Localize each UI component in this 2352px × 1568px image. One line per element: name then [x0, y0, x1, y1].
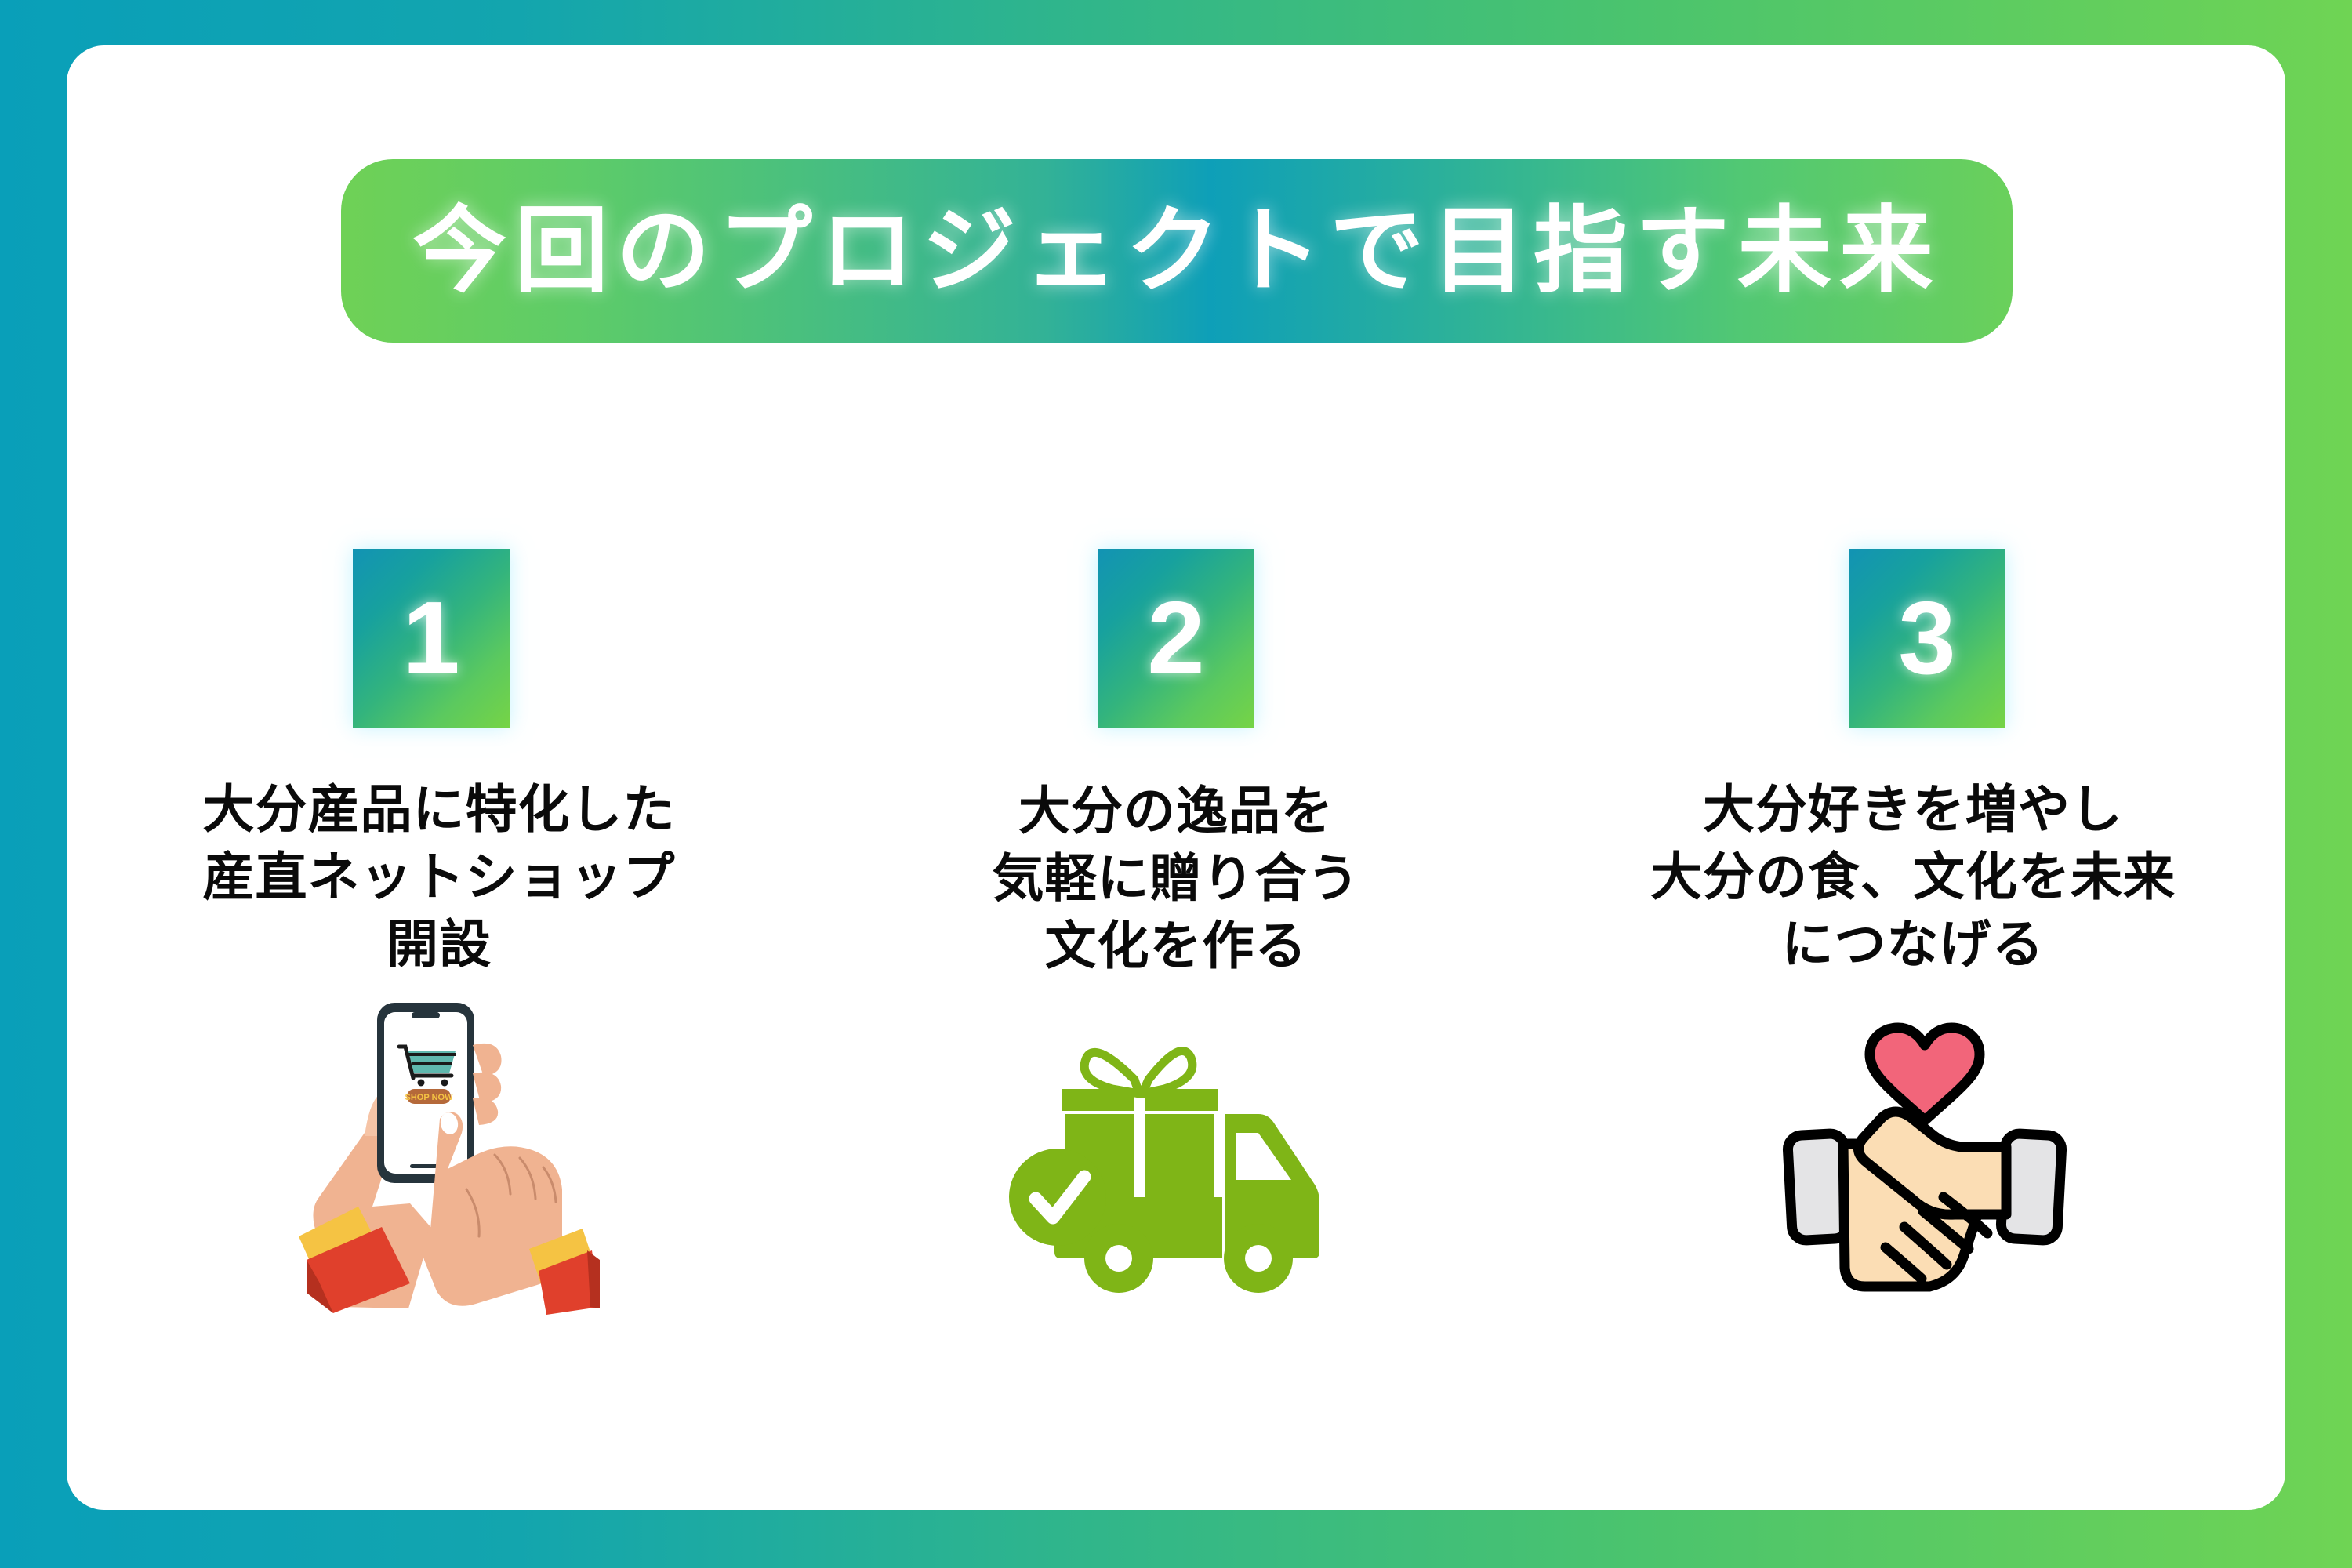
- hand-holding-phone-shopping-icon: SHOP NOW: [270, 1001, 600, 1315]
- slide-canvas: 今回のプロジェクトで目指す未来 1 大分産品に特化した 産直ネットショップ 開設: [0, 0, 2352, 1568]
- gift-delivery-truck-check-icon: [1009, 1023, 1338, 1305]
- title-banner: 今回のプロジェクトで目指す未来: [341, 159, 2013, 343]
- goal-column-3: 3 大分好きを増やし 大分の食、文化を未来 につなげる: [1560, 549, 2266, 1349]
- step-number-3: 3: [1898, 586, 1955, 690]
- handshake-heart-icon: [1768, 1020, 2082, 1302]
- goal-caption-3: 大分好きを増やし 大分の食、文化を未来 につなげる: [1650, 776, 2176, 978]
- goals-columns: 1 大分産品に特化した 産直ネットショップ 開設: [86, 549, 2266, 1352]
- step-badge-1: 1: [353, 549, 510, 728]
- goal-icon-2-wrap: [1009, 1023, 1338, 1352]
- goal-icon-3-wrap: [1768, 1020, 2082, 1349]
- step-number-1: 1: [402, 586, 459, 690]
- goal-column-1: 1 大分産品に特化した 産直ネットショップ 開設: [86, 549, 792, 1330]
- page-title: 今回のプロジェクトで目指す未来: [412, 204, 1941, 298]
- step-number-2: 2: [1147, 586, 1204, 690]
- goal-caption-1: 大分産品に特化した 産直ネットショップ 開設: [203, 776, 676, 978]
- goal-icon-1-wrap: SHOP NOW: [270, 1001, 600, 1330]
- step-badge-2: 2: [1098, 549, 1254, 728]
- goal-caption-2: 大分の逸品を 気軽に贈り合う 文化を作る: [993, 778, 1360, 979]
- svg-text:SHOP NOW: SHOP NOW: [405, 1093, 454, 1102]
- goal-column-2: 2 大分の逸品を 気軽に贈り合う 文化を作る: [823, 549, 1529, 1352]
- step-badge-3: 3: [1849, 549, 2005, 728]
